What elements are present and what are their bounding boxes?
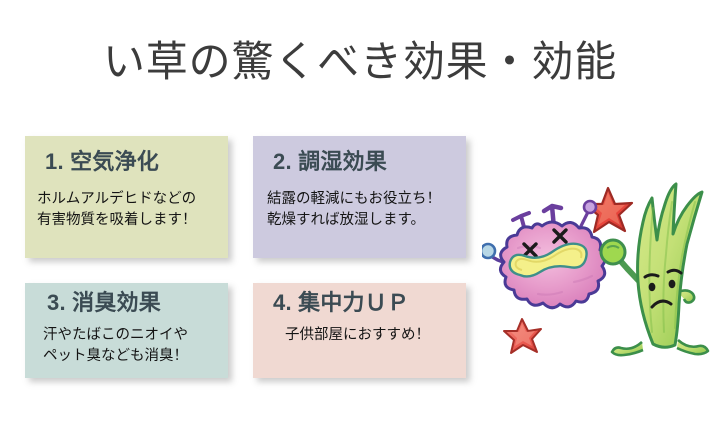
page-title: い草の驚くべき効果・効能 [0,40,720,87]
benefit-card-4-body-line-1: 子供部屋におすすめ！ [285,325,430,346]
benefit-card-concentration-up: 4. 集中力ＵＰ 子供部屋におすすめ！ [253,283,466,378]
benefit-card-2-body-line-2: 乾燥すれば放湿します。 [267,210,441,231]
benefit-card-3-body-line-1: 汗やたばこのニオイや [43,325,188,346]
benefit-card-humidity-control: 2. 調湿効果 結露の軽減にもお役立ち！ 乾燥すれば放湿します。 [253,136,466,258]
benefit-card-deodorizing: 3. 消臭効果 汗やたばこのニオイや ペット臭なども消臭！ [25,283,228,378]
benefit-card-2-body-line-1: 結露の軽減にもお役立ち！ [267,189,441,210]
benefit-card-1-heading: 1. 空気浄化 [45,150,159,174]
germ-character [482,201,606,308]
benefit-card-2-heading: 2. 調湿効果 [273,150,387,174]
grass-eye-left-icon [649,283,656,291]
grass-eye-right-icon [669,280,676,288]
benefit-card-air-purification: 1. 空気浄化 ホルムアルデヒドなどの 有害物質を吸着します！ [25,136,228,258]
benefit-card-1-body-line-1: ホルムアルデヒドなどの [37,189,197,210]
benefit-card-1-body-line-2: 有害物質を吸着します！ [37,210,197,231]
benefit-card-4-body: 子供部屋におすすめ！ [285,325,430,346]
benefit-card-4-heading: 4. 集中力ＵＰ [273,291,409,315]
benefit-card-3-body-line-2: ペット臭なども消臭！ [43,346,188,367]
benefit-card-1-body: ホルムアルデヒドなどの 有害物質を吸着します！ [37,189,197,231]
star-lower-icon [504,319,541,353]
germ-defeated-by-igusa-grass-illustration [482,182,720,382]
grass-raised-arm-icon [601,240,640,282]
benefit-card-2-body: 結露の軽減にもお役立ち！ 乾燥すれば放湿します。 [267,189,441,231]
benefit-card-3-heading: 3. 消臭効果 [47,291,161,315]
benefit-card-3-body: 汗やたばこのニオイや ペット臭なども消臭！ [43,325,188,367]
infographic-canvas: い草の驚くべき効果・効能 1. 空気浄化 ホルムアルデヒドなどの 有害物質を吸着… [0,0,720,429]
